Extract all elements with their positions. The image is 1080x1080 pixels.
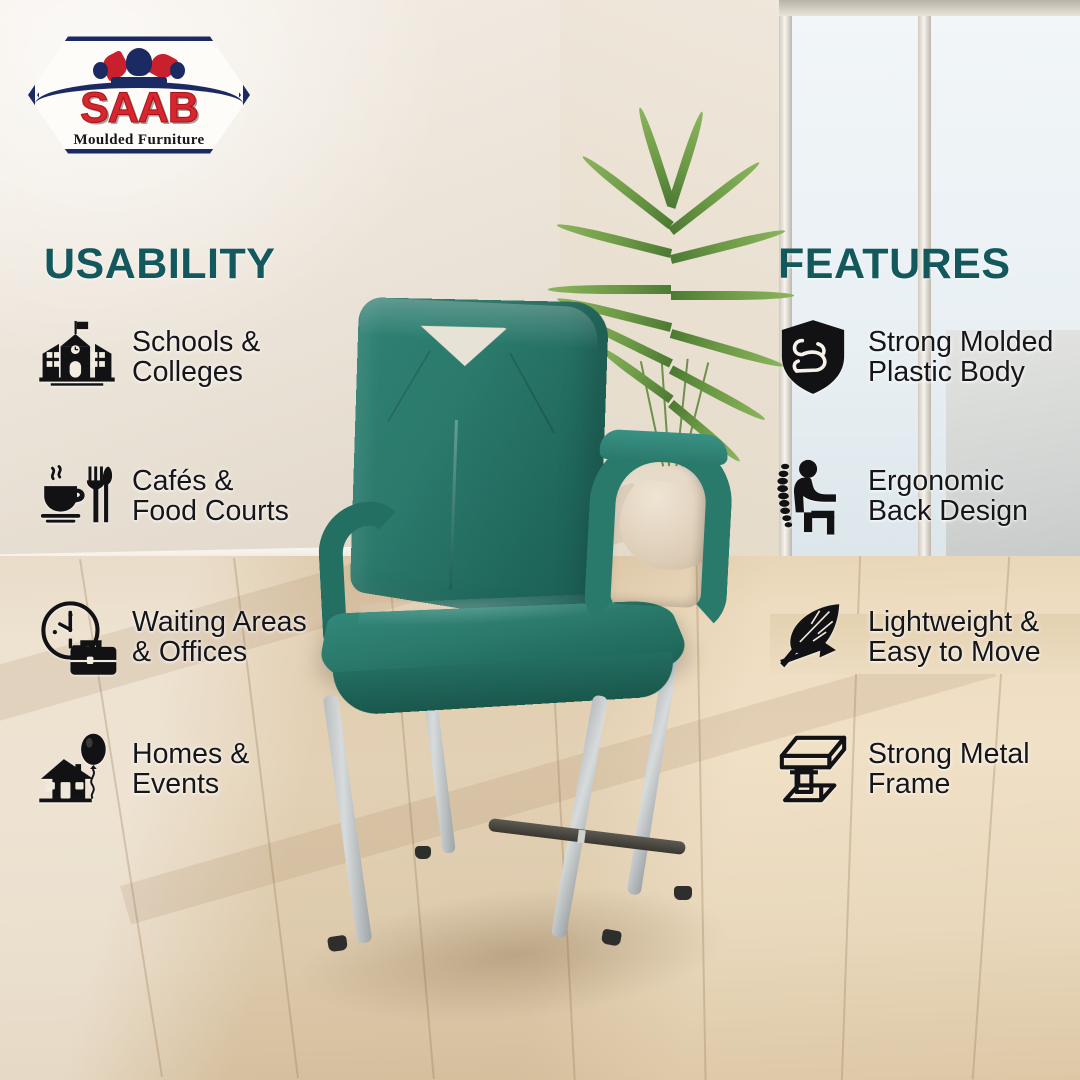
shield-muscle-icon — [772, 316, 854, 398]
sitting-spine-icon — [772, 455, 854, 537]
features-item-label: Ergonomic Back Design — [868, 466, 1028, 527]
usability-item-label: Cafés & Food Courts — [132, 466, 289, 527]
features-item-strong-body: Strong Molded Plastic Body — [772, 316, 1072, 398]
usability-item-homes: Homes & Events — [36, 728, 366, 810]
usability-item-label: Waiting Areas & Offices — [132, 607, 307, 668]
features-item-label: Lightweight & Easy to Move — [868, 607, 1041, 668]
features-item-lightweight: Lightweight & Easy to Move — [772, 596, 1072, 678]
feather-arrow-icon — [772, 596, 854, 678]
usability-item-label: Schools & Colleges — [132, 327, 260, 388]
usability-heading: USABILITY — [44, 240, 275, 289]
clock-briefcase-icon — [36, 596, 118, 678]
features-item-ergonomic-back: Ergonomic Back Design — [772, 455, 1072, 537]
features-heading: FEATURES — [778, 240, 1011, 289]
features-item-label: Strong Metal Frame — [868, 739, 1030, 800]
saab-brand-logo: SAAB Moulded Furniture — [28, 34, 250, 156]
usability-item-cafes: Cafés & Food Courts — [36, 455, 366, 537]
usability-item-waiting-areas: Waiting Areas & Offices — [36, 596, 366, 678]
usability-item-schools: Schools & Colleges — [36, 316, 366, 398]
usability-item-label: Homes & Events — [132, 739, 249, 800]
features-item-metal-frame: Strong Metal Frame — [772, 728, 1072, 810]
house-balloon-icon — [36, 728, 118, 810]
features-item-label: Strong Molded Plastic Body — [868, 327, 1053, 388]
school-building-icon — [36, 316, 118, 398]
logo-tagline: Moulded Furniture — [28, 132, 250, 149]
coffee-cutlery-icon — [36, 455, 118, 537]
logo-wordmark: SAAB — [28, 84, 250, 133]
steel-ibeam-icon — [772, 728, 854, 810]
